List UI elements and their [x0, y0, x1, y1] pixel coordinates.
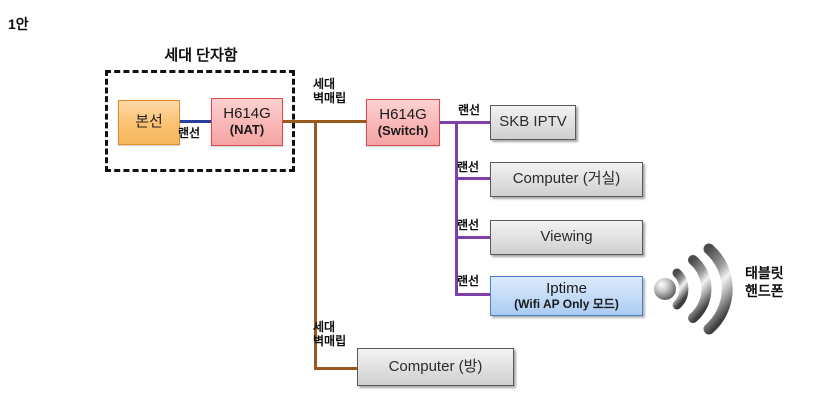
- node-computer-room-label: Computer (방): [389, 359, 483, 376]
- page-title: 1안: [8, 14, 29, 34]
- wire-lan-switch-trunk: [440, 121, 490, 124]
- wire-lan-main-to-nat: [180, 120, 211, 123]
- node-skb-iptv[interactable]: SKB IPTV: [490, 105, 576, 140]
- wall-embedded-label-top-line2: 벽매립: [313, 91, 346, 105]
- wire-wall-to-computer-room: [314, 367, 359, 370]
- wire-lan-to-computer-living: [455, 177, 491, 180]
- wire-lan-to-viewing: [455, 236, 491, 239]
- diagram-canvas: 1안 세대 단자함 본선 랜선 H614G (NAT) 세대 벽매립 세대 벽매…: [0, 0, 822, 409]
- cable-label-lan-iptv: 랜선: [458, 101, 480, 118]
- node-h614g-nat-mode: (NAT): [230, 123, 264, 138]
- node-iptime-name: Iptime: [546, 281, 587, 298]
- wall-embedded-label-top: 세대 벽매립: [313, 78, 346, 106]
- wire-lan-to-iptime: [455, 293, 491, 296]
- node-main-line[interactable]: 본선: [118, 100, 180, 145]
- node-computer-room[interactable]: Computer (방): [357, 348, 514, 386]
- wireless-clients-line1: 태블릿: [745, 265, 784, 281]
- cable-label-lan-iptime: 랜선: [457, 272, 479, 289]
- wifi-signal-icon: [652, 243, 734, 335]
- node-h614g-nat[interactable]: H614G (NAT): [211, 98, 283, 146]
- wireless-clients-line2: 핸드폰: [745, 283, 784, 299]
- node-h614g-switch-model: H614G: [379, 107, 427, 124]
- node-iptime-mode: (Wifi AP Only 모드): [514, 298, 619, 311]
- wire-lan-vertical-bus: [455, 121, 458, 296]
- node-computer-living-label: Computer (거실): [513, 171, 621, 188]
- node-viewing[interactable]: Viewing: [490, 220, 643, 255]
- wall-embedded-label-bottom-line1: 세대: [313, 320, 335, 334]
- wall-embedded-label-bottom: 세대 벽매립: [313, 321, 346, 349]
- node-skb-iptv-label: SKB IPTV: [499, 114, 567, 131]
- wire-wall-nat-to-switch: [283, 120, 368, 123]
- wall-embedded-label-top-line1: 세대: [313, 77, 335, 91]
- node-iptime[interactable]: Iptime (Wifi AP Only 모드): [490, 276, 643, 316]
- enclosure-label: 세대 단자함: [105, 44, 297, 65]
- wireless-clients-caption: 태블릿 핸드폰: [745, 265, 784, 300]
- node-h614g-nat-model: H614G: [223, 106, 271, 123]
- node-h614g-switch-mode: (Switch): [378, 124, 429, 139]
- node-computer-living[interactable]: Computer (거실): [490, 162, 643, 197]
- wall-embedded-label-bottom-line2: 벽매립: [313, 334, 346, 348]
- node-main-line-label: 본선: [135, 114, 163, 131]
- node-h614g-switch[interactable]: H614G (Switch): [366, 99, 440, 146]
- cable-label-lan-computer-living: 랜선: [457, 158, 479, 175]
- node-viewing-label: Viewing: [540, 229, 592, 246]
- cable-label-lan-main: 랜선: [178, 124, 200, 141]
- cable-label-lan-viewing: 랜선: [457, 216, 479, 233]
